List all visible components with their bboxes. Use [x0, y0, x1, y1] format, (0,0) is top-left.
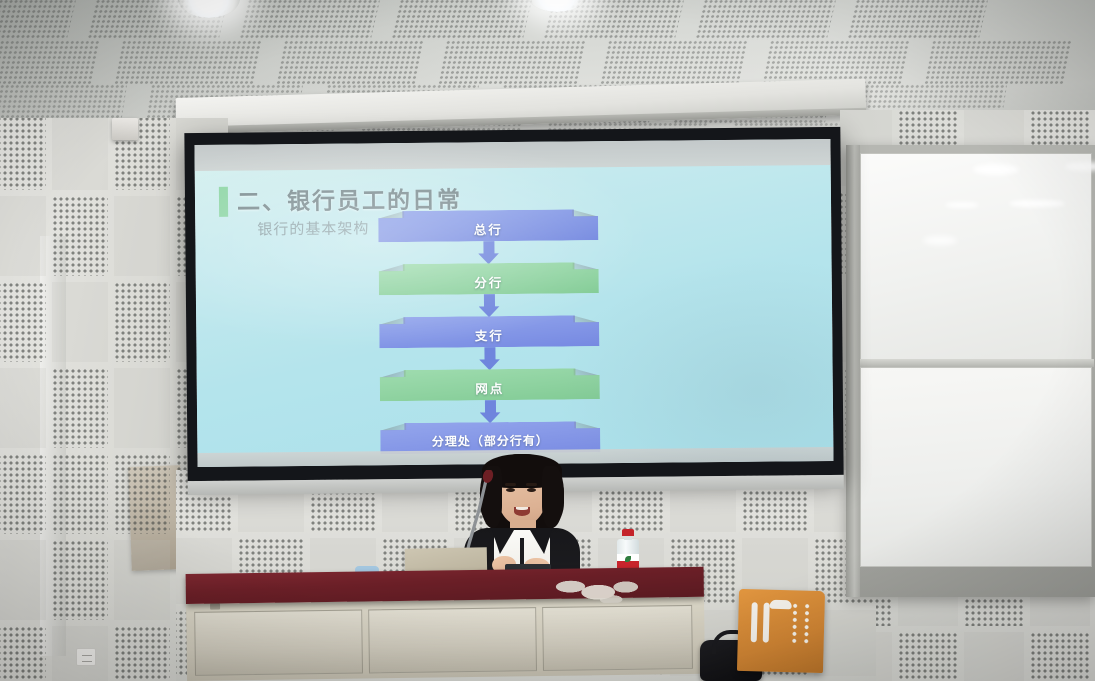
podium-panel — [368, 607, 537, 673]
wall-plate — [0, 196, 46, 276]
wall-plate — [114, 196, 170, 276]
power-outlet — [76, 648, 96, 666]
chair-backrest — [737, 589, 825, 673]
flow-notch-left — [380, 370, 406, 378]
wall-plate — [0, 368, 46, 448]
podium-scuff-mark — [554, 578, 646, 603]
wall-plate — [114, 540, 170, 620]
flow-box-1: 分行 — [379, 262, 599, 295]
hair-side-right — [542, 466, 564, 528]
flow-notch-right — [572, 209, 598, 217]
flow-arrow-1 — [379, 293, 599, 317]
acoustic-perf-panel — [114, 454, 170, 534]
flow-notch-right — [573, 315, 599, 323]
acoustic-perf-panel — [0, 282, 46, 362]
whiteboard-rail — [858, 359, 1094, 367]
podium — [186, 574, 704, 681]
projection-screen-surface: 二、银行员工的日常 银行的基本架构 总行 — [194, 139, 833, 467]
eye-right — [527, 488, 536, 492]
acoustic-perf-panel — [898, 632, 958, 681]
flow-notch-left — [380, 423, 406, 431]
wall-speaker — [112, 118, 138, 140]
flow-notch-right — [573, 368, 599, 376]
acoustic-perf-panel — [52, 196, 108, 276]
flow-notch-right — [574, 421, 600, 429]
bottle-cap — [622, 529, 634, 536]
title-accent-bar — [219, 187, 228, 217]
lecture-hall-scene: 二、银行员工的日常 银行的基本架构 总行 — [0, 0, 1095, 681]
whiteboard-glare — [945, 202, 979, 208]
whiteboard-glare — [973, 164, 1019, 175]
acoustic-perf-panel — [114, 282, 170, 362]
flow-box-label: 支行 — [475, 320, 504, 344]
flow-notch-right — [572, 262, 598, 270]
chair-dot-column — [792, 602, 798, 644]
arrow-stem — [483, 241, 494, 255]
flow-box-3: 网点 — [380, 368, 600, 401]
acoustic-perf-panel — [1030, 632, 1090, 681]
podium-panel — [542, 605, 693, 671]
flow-box-label: 分理处（部分行有） — [432, 426, 549, 449]
whiteboard-glare — [923, 236, 957, 245]
slide-subtitle: 银行的基本架构 — [257, 217, 369, 239]
flow-notch-left — [378, 211, 404, 219]
chair-slot — [751, 602, 758, 642]
eyebrow-right — [526, 483, 537, 486]
arrow-stem — [484, 347, 495, 361]
whiteboard-track — [846, 145, 860, 597]
wall-plate — [114, 368, 170, 448]
projection-screen: 二、银行员工的日常 银行的基本架构 总行 — [184, 127, 843, 481]
flow-arrow-3 — [380, 399, 600, 423]
chair-dot-column — [804, 603, 810, 645]
flow-box-0: 总行 — [378, 209, 598, 242]
org-flowchart: 总行 分行 — [378, 209, 600, 454]
flow-arrow-2 — [379, 346, 599, 370]
whiteboard-glare — [1065, 162, 1095, 171]
whiteboard-bottom[interactable] — [860, 367, 1092, 567]
slide-letterbox-top — [194, 139, 830, 171]
acoustic-perf-panel — [52, 454, 108, 534]
whiteboard-glare — [1009, 200, 1065, 207]
presentation-slide: 二、银行员工的日常 银行的基本架构 总行 — [194, 139, 833, 467]
wooden-chair — [738, 590, 824, 681]
wall-plate — [52, 118, 108, 190]
wall-plate — [52, 282, 108, 362]
flow-box-label: 分行 — [474, 267, 503, 291]
wall-plate — [0, 540, 46, 620]
chair-slot — [763, 603, 770, 643]
flow-box-label: 总行 — [474, 214, 503, 238]
flow-box-2: 支行 — [379, 315, 599, 348]
acoustic-perf-panel — [0, 454, 46, 534]
podium-panel — [194, 610, 363, 676]
whiteboard-frame — [846, 145, 1095, 597]
chair-cutout-shape — [770, 600, 792, 610]
wall-plate — [964, 632, 1024, 681]
acoustic-perf-panel — [52, 368, 108, 448]
podium-body — [186, 595, 705, 681]
flow-arrow-0 — [378, 240, 598, 264]
acoustic-perf-panel — [0, 118, 46, 190]
flow-box-label: 网点 — [475, 373, 504, 397]
flow-notch-left — [379, 317, 405, 325]
whiteboard-top[interactable] — [860, 153, 1092, 361]
arrow-stem — [483, 294, 494, 308]
acoustic-perf-panel — [52, 540, 108, 620]
acoustic-perf-panel — [0, 626, 46, 681]
acoustic-perf-panel — [114, 626, 170, 681]
podium-lock — [210, 604, 220, 610]
arrow-stem — [484, 400, 495, 414]
flow-notch-left — [379, 264, 405, 272]
